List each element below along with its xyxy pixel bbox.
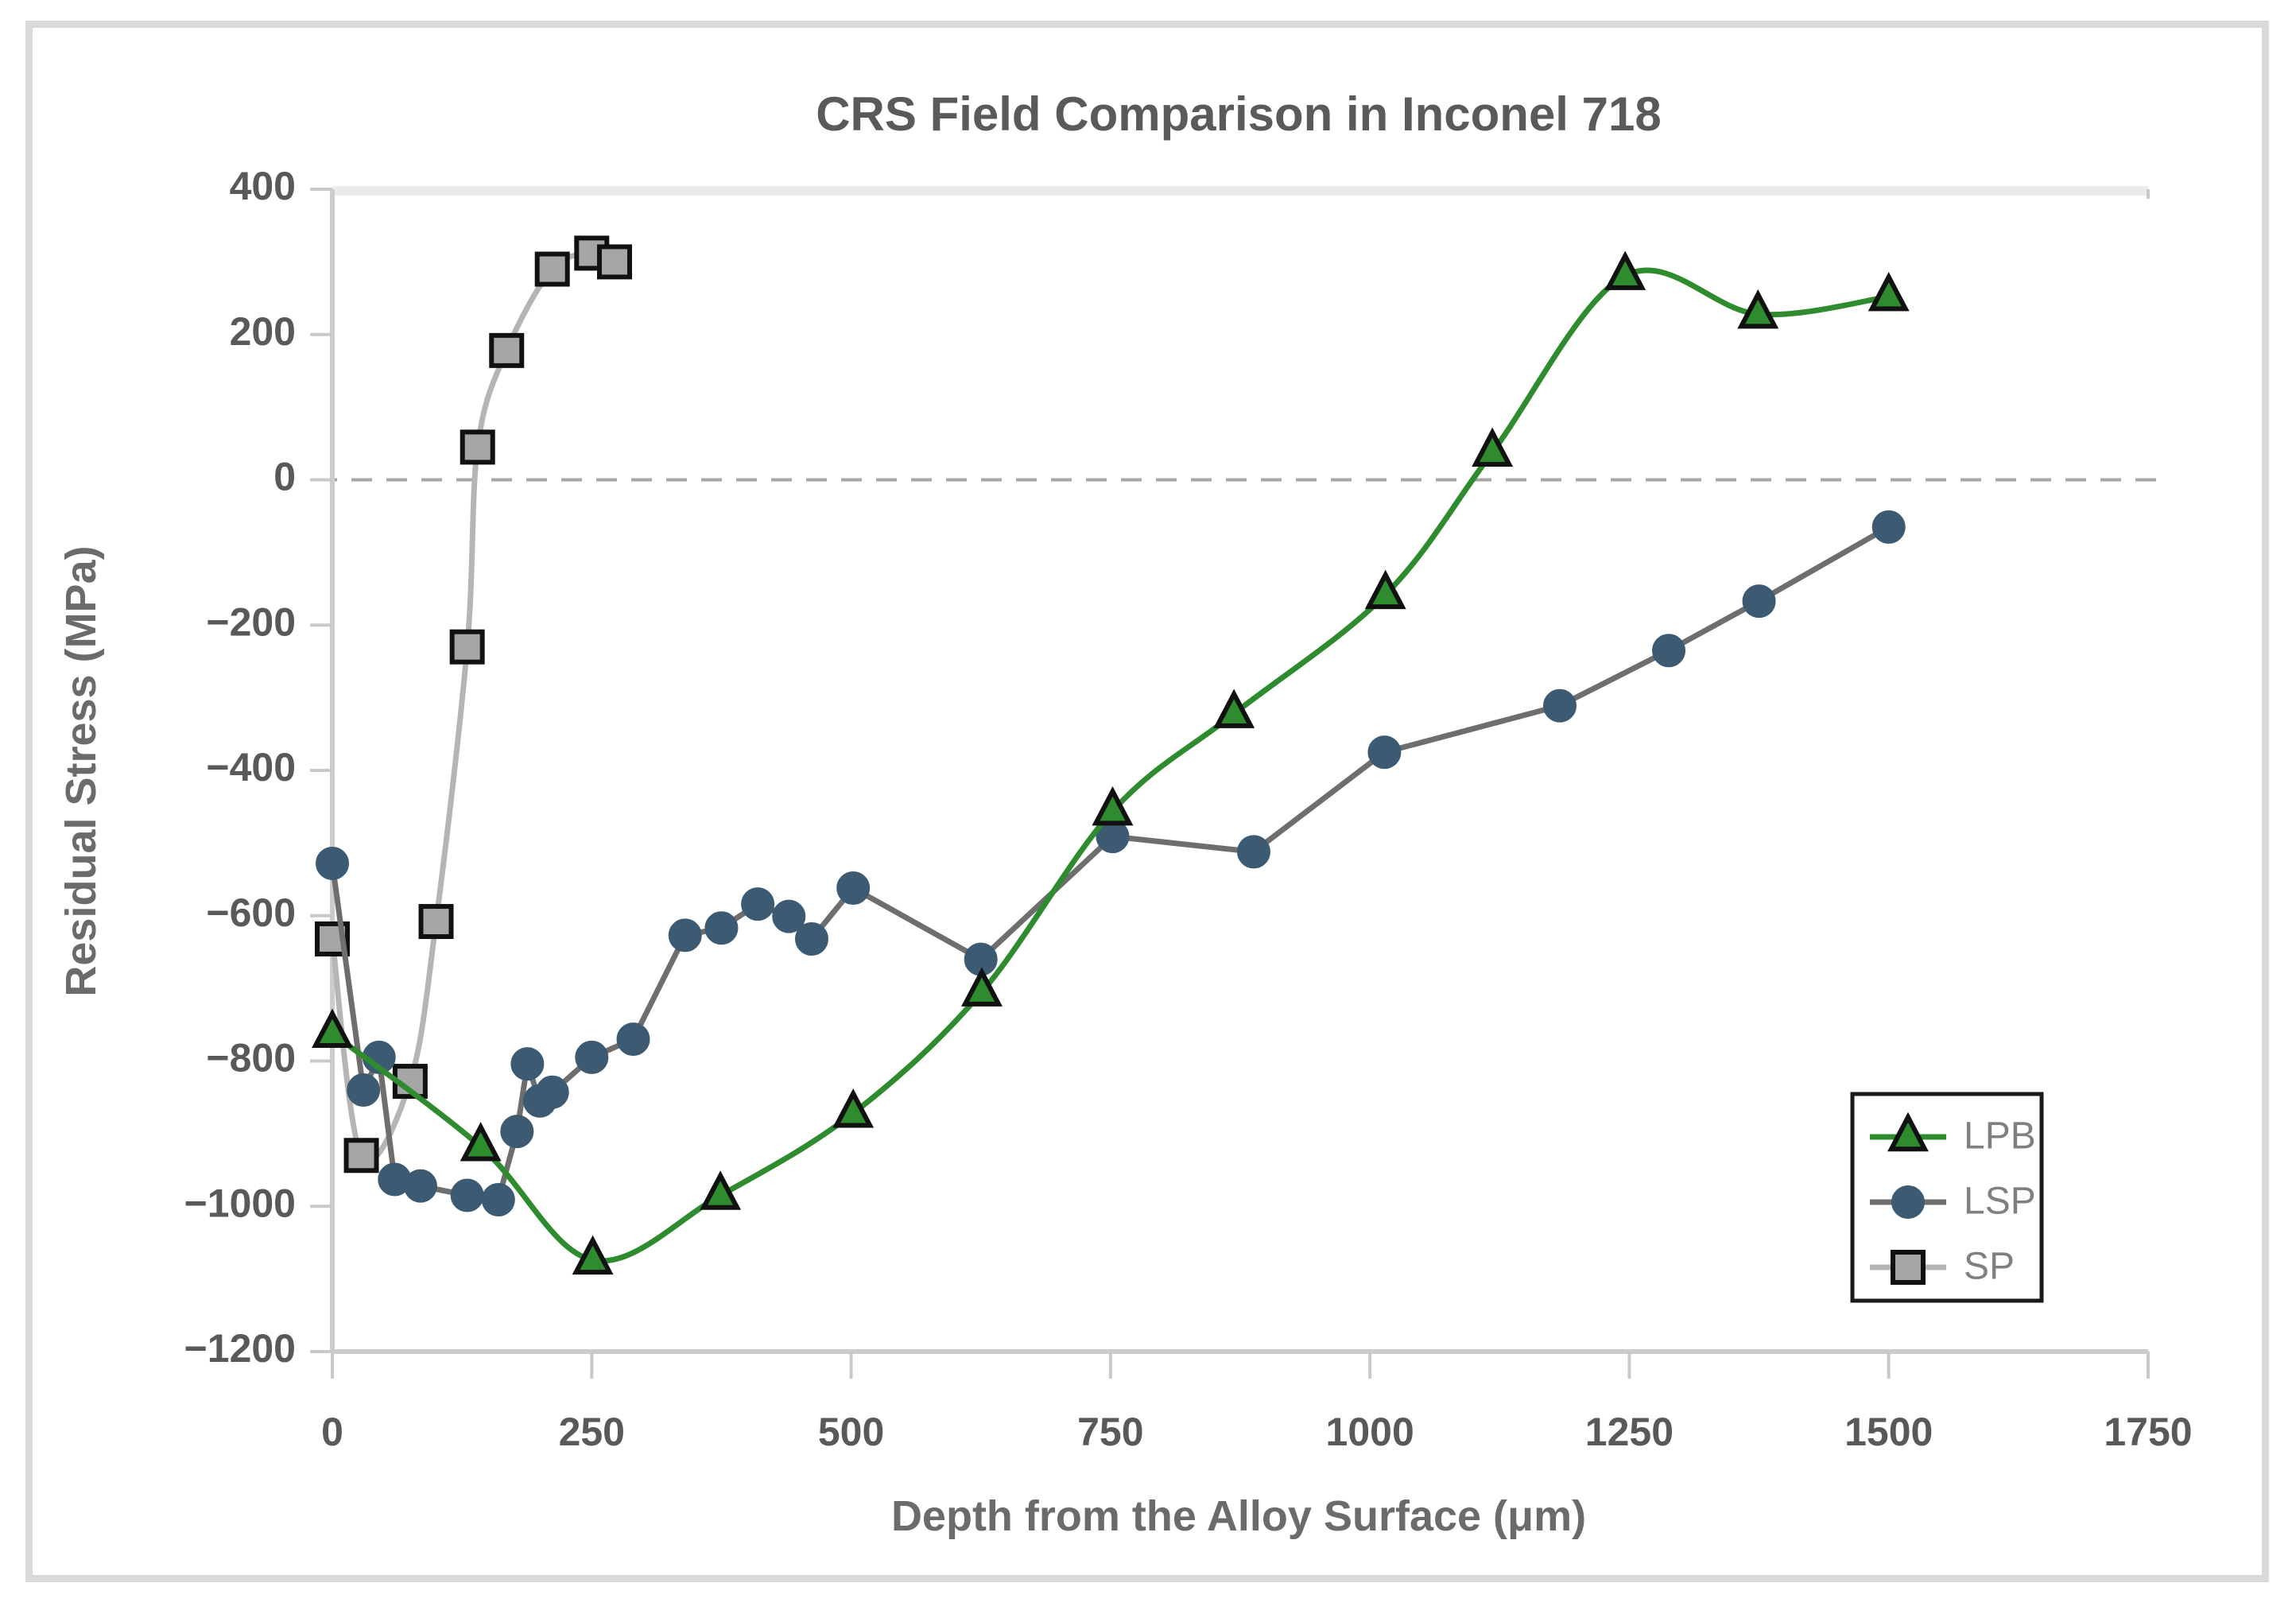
data-point-square-marker xyxy=(421,906,452,937)
data-point-circle-marker xyxy=(1873,511,1905,543)
y-axis-ticks: 4002000−200−400−600−800−1000−1200 xyxy=(184,164,332,1371)
x-axis-title: Depth from the Alloy Surface (μm) xyxy=(891,1492,1586,1540)
data-point-circle-marker xyxy=(1368,736,1400,768)
data-point-circle-marker xyxy=(705,912,737,944)
data-point-square-marker xyxy=(463,432,493,462)
data-point-circle-marker xyxy=(537,1076,568,1108)
y-tick-label: −1200 xyxy=(184,1326,296,1371)
x-tick-label: 1000 xyxy=(1326,1410,1414,1454)
data-point-triangle-marker xyxy=(1217,694,1251,726)
series-lpb xyxy=(316,256,1906,1272)
y-tick-label: −400 xyxy=(206,745,296,789)
y-tick-label: 200 xyxy=(230,309,296,354)
x-tick-label: 500 xyxy=(818,1410,884,1454)
data-point-circle-marker xyxy=(501,1115,533,1147)
data-point-circle-marker xyxy=(1743,585,1775,617)
x-axis-ticks: 02505007501000125015001750 xyxy=(321,1352,2193,1454)
data-point-triangle-marker xyxy=(1872,277,1906,308)
chart-page: CRS Field Comparison in Inconel 718 4002… xyxy=(0,0,2296,1606)
y-tick-label: −200 xyxy=(206,599,296,644)
x-tick-label: 1250 xyxy=(1585,1410,1674,1454)
data-point-circle-marker xyxy=(405,1170,436,1202)
legend-label-lpb: LPB xyxy=(1964,1115,2036,1158)
data-point-circle-marker xyxy=(796,923,828,955)
data-point-square-marker xyxy=(491,336,522,366)
data-point-circle-marker xyxy=(1892,1186,1924,1218)
data-point-circle-marker xyxy=(452,1180,483,1212)
data-point-circle-marker xyxy=(617,1023,649,1055)
series-sp xyxy=(317,238,630,1170)
series-line-sp xyxy=(332,253,615,1161)
data-point-square-marker xyxy=(452,632,483,662)
y-axis-title: Residual Stress (MPa) xyxy=(57,545,105,996)
data-point-circle-marker xyxy=(316,848,348,879)
chart-legend[interactable]: LPBLSPSP xyxy=(1852,1094,2042,1301)
x-tick-label: 1750 xyxy=(2104,1410,2192,1454)
y-tick-label: 400 xyxy=(230,164,296,208)
data-point-circle-marker xyxy=(669,919,701,951)
data-point-square-marker xyxy=(537,254,568,285)
x-tick-label: 0 xyxy=(321,1410,343,1454)
y-tick-label: 0 xyxy=(273,455,296,499)
data-point-circle-marker xyxy=(576,1042,607,1073)
data-point-circle-marker xyxy=(1238,836,1270,867)
crs-field-comparison-chart: CRS Field Comparison in Inconel 718 4002… xyxy=(0,0,2296,1606)
page-title: CRS Field Comparison in Inconel 718 xyxy=(816,87,1662,141)
data-point-square-marker xyxy=(599,246,630,277)
series-line-lpb xyxy=(332,270,1889,1261)
data-point-square-marker xyxy=(347,1140,377,1170)
data-point-triangle-marker xyxy=(836,1093,870,1125)
data-point-square-marker xyxy=(1893,1252,1923,1282)
y-tick-label: −1000 xyxy=(184,1181,296,1225)
x-tick-label: 750 xyxy=(1077,1410,1143,1454)
x-tick-label: 250 xyxy=(559,1410,625,1454)
legend-label-lsp: LSP xyxy=(1964,1181,2036,1223)
gridlines xyxy=(316,191,2164,480)
series-lsp xyxy=(316,511,1905,1216)
y-tick-label: −800 xyxy=(206,1036,296,1080)
data-point-triangle-marker xyxy=(464,1127,498,1159)
data-point-circle-marker xyxy=(742,888,774,920)
data-point-circle-marker xyxy=(347,1074,379,1106)
x-tick-label: 1500 xyxy=(1844,1410,1933,1454)
data-point-circle-marker xyxy=(483,1184,514,1216)
data-series xyxy=(316,238,1906,1272)
data-point-circle-marker xyxy=(511,1048,543,1080)
data-point-circle-marker xyxy=(837,872,869,904)
legend-label-sp: SP xyxy=(1964,1246,2015,1288)
data-point-circle-marker xyxy=(1653,634,1685,666)
y-tick-label: −600 xyxy=(206,890,296,935)
data-point-circle-marker xyxy=(1544,690,1576,722)
